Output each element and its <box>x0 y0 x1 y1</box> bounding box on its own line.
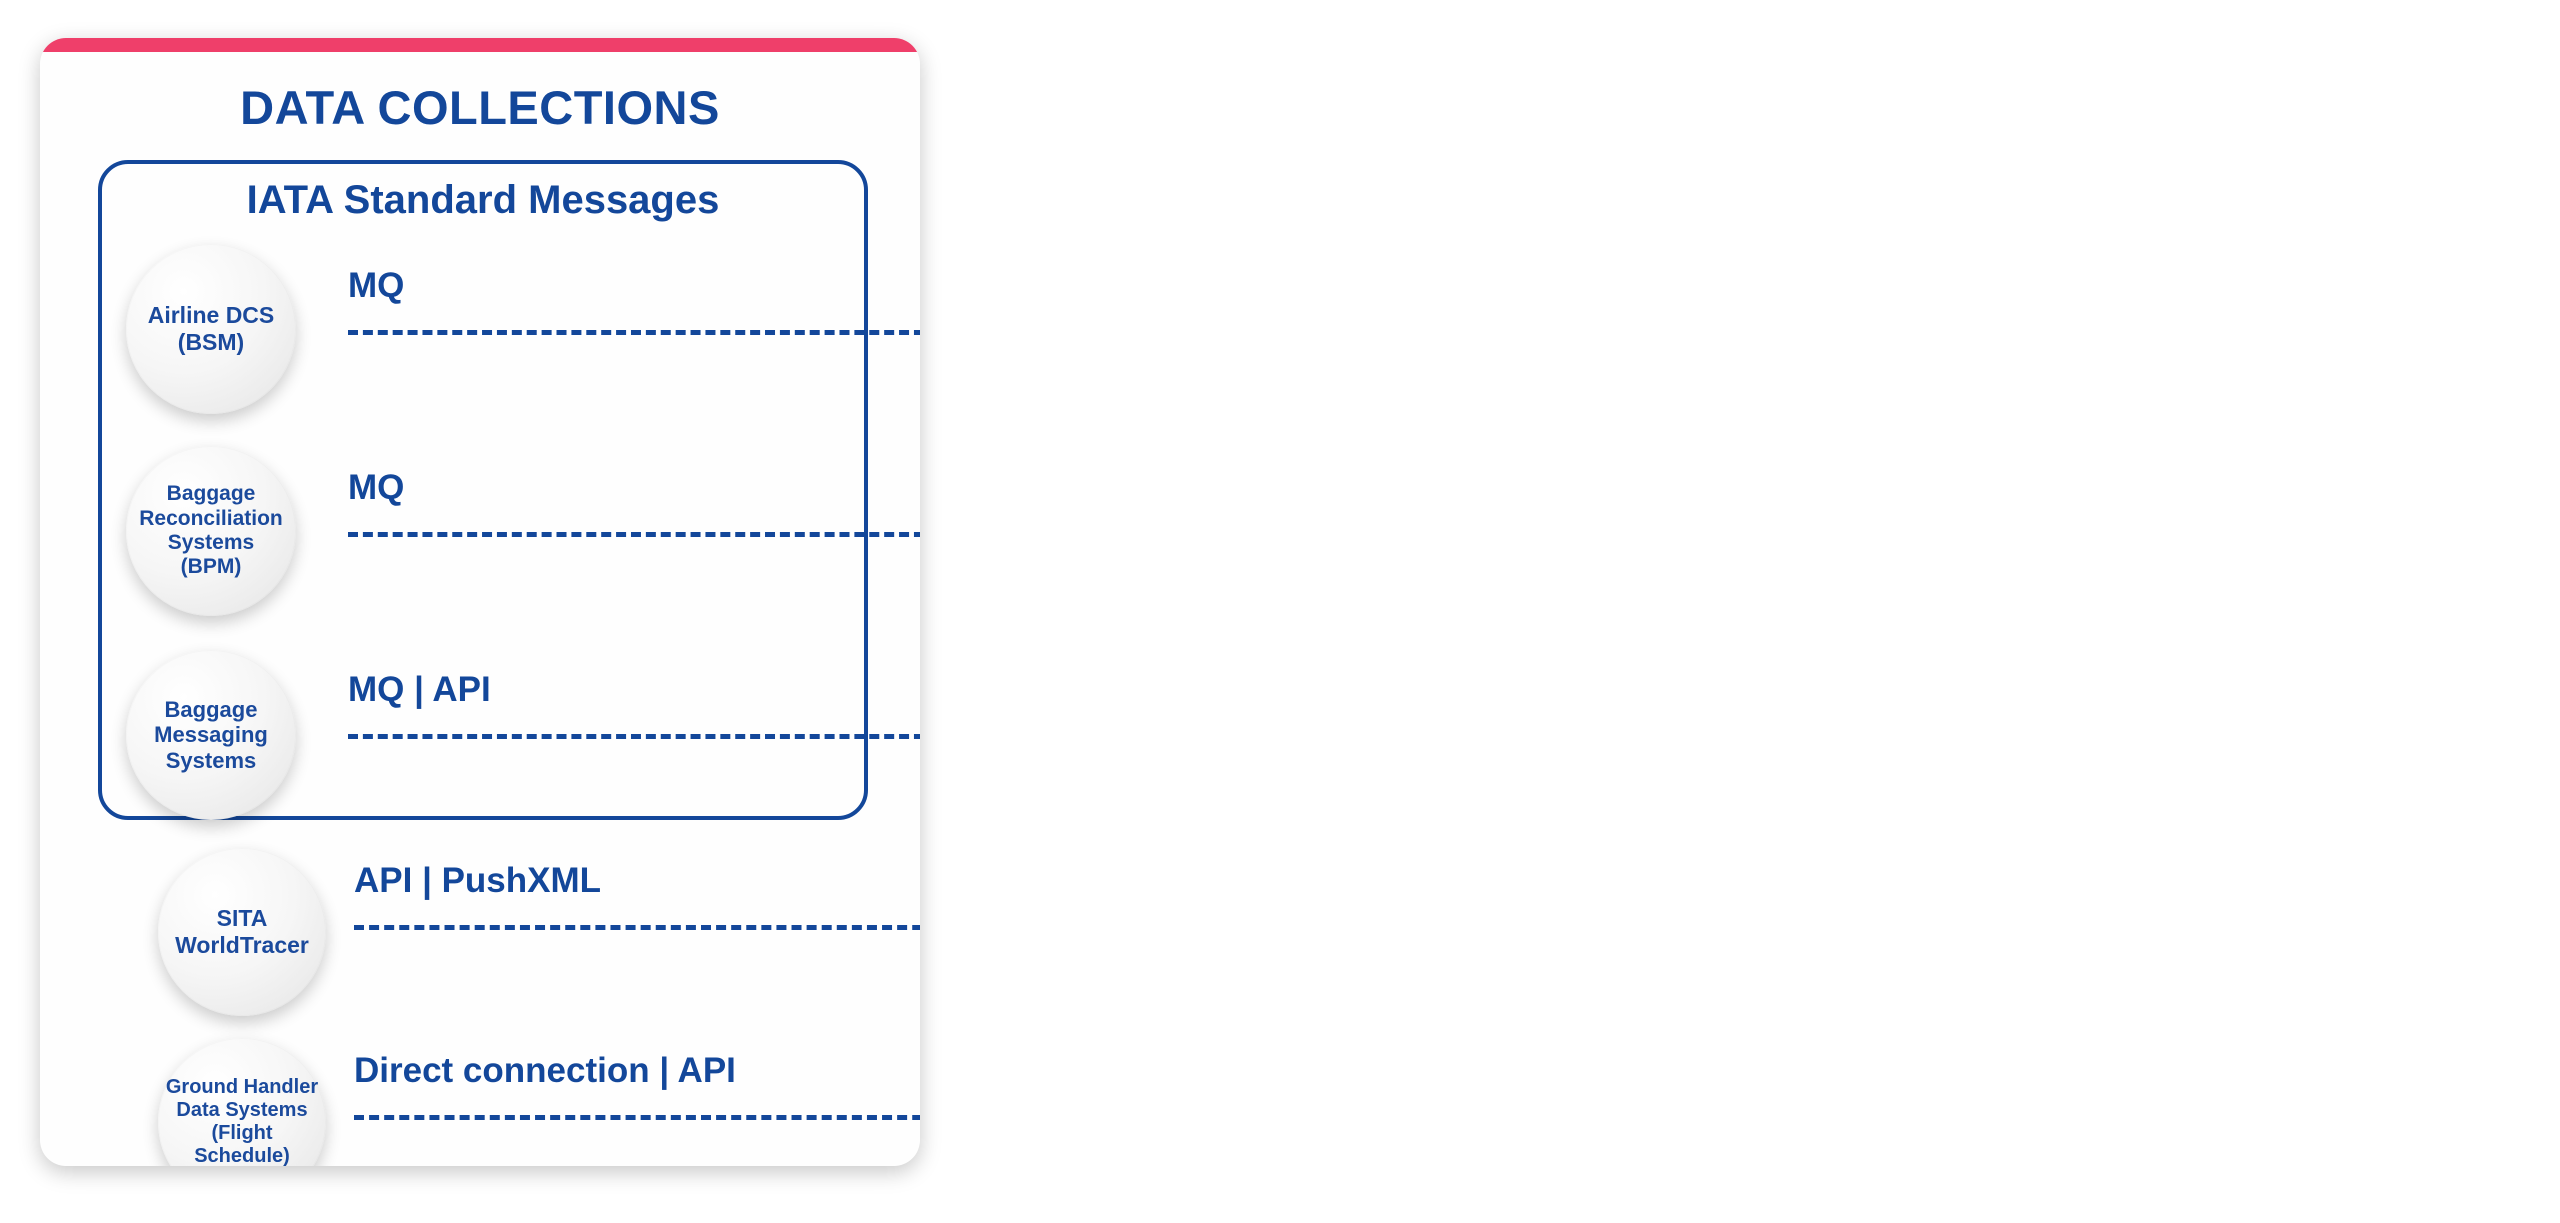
panel-accent-bar-pink <box>40 38 920 52</box>
page-title: DATA COLLECTIONS <box>40 80 920 135</box>
source-label-line: Baggage <box>154 697 268 723</box>
source-label-line: SITA <box>175 905 309 932</box>
protocol-label-baggage-reconciliation: MQ <box>348 468 404 508</box>
protocol-label-ground-handler: Direct connection | API <box>354 1051 736 1091</box>
source-node-sita-worldtracer[interactable]: SITA WorldTracer <box>158 848 326 1016</box>
source-label-line: Ground Handler <box>164 1076 320 1099</box>
connector-line-ground-handler <box>354 1115 920 1120</box>
protocol-label-sita-worldtracer: API | PushXML <box>354 861 601 901</box>
source-label-line: Airline DCS <box>148 302 275 329</box>
source-label-line: Reconciliation <box>139 507 283 531</box>
connector-line-baggage-reconciliation <box>348 532 920 537</box>
connector-line-baggage-messaging <box>348 734 920 739</box>
source-node-airline-dcs[interactable]: Airline DCS (BSM) <box>126 244 296 414</box>
source-label-line: WorldTracer <box>175 932 309 959</box>
protocol-label-baggage-messaging: MQ | API <box>348 670 491 710</box>
source-label-line: Baggage <box>139 482 283 506</box>
iata-group-title: IATA Standard Messages <box>102 178 864 223</box>
source-label-line: (BPM) <box>139 555 283 579</box>
source-label-line: (Flight Schedule) <box>164 1122 320 1166</box>
source-node-ground-handler[interactable]: Ground Handler Data Systems (Flight Sche… <box>158 1038 326 1166</box>
data-collections-panel: DATA COLLECTIONS IATA Standard Messages … <box>40 38 920 1166</box>
source-label-line: Data Systems <box>164 1099 320 1122</box>
protocol-label-airline-dcs: MQ <box>348 266 404 306</box>
connector-line-sita-worldtracer <box>354 925 920 930</box>
source-label-line: (BSM) <box>148 329 275 356</box>
connector-line-airline-dcs <box>348 330 920 335</box>
source-label-line: Systems <box>139 531 283 555</box>
source-label-line: Systems <box>154 748 268 774</box>
source-node-baggage-messaging[interactable]: Baggage Messaging Systems <box>126 650 296 820</box>
diagram-canvas: DATA COLLECTIONS IATA Standard Messages … <box>0 0 2560 1223</box>
source-node-baggage-reconciliation[interactable]: Baggage Reconciliation Systems (BPM) <box>126 446 296 616</box>
source-label-line: Messaging <box>154 722 268 748</box>
